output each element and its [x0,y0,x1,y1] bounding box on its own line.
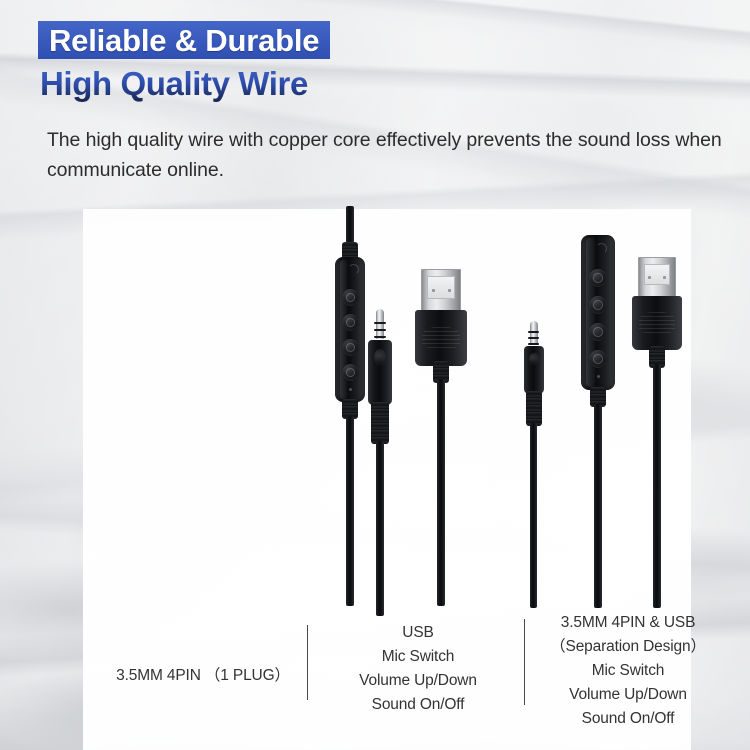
usb-hole [432,289,435,292]
banner-highlight: Reliable & Durable [38,21,330,59]
caption-right: 3.5MM 4PIN & USB （Separation Design） Mic… [533,611,723,731]
jack-tip-icon [376,309,384,339]
mic-icon [593,273,603,283]
banner-title: Reliable & Durable [49,25,319,56]
inline-control-module [581,235,615,390]
jack-body [524,346,544,394]
usb-hole [648,276,651,279]
inline-control-module [335,257,365,402]
mic-switch-button[interactable] [342,289,359,306]
page-description: The high quality wire with copper core e… [47,126,727,185]
mic-indicator-icon [596,243,607,254]
volume-down-icon [346,343,356,353]
volume-down-button[interactable] [589,323,607,341]
cable [437,379,445,606]
mic-switch-button[interactable] [589,269,607,287]
cable [594,404,602,608]
volume-up-icon [593,300,603,310]
page-subtitle: High Quality Wire [40,66,308,103]
caption-left: 3.5MM 4PIN （1 PLUG） [103,664,303,688]
jack-body [368,340,392,405]
sound-icon [346,368,356,378]
cable [346,416,354,606]
jack-tip-icon [530,321,538,345]
caption-middle: USB Mic Switch Volume Up/Down Sound On/O… [318,621,518,717]
cable [346,206,354,246]
usb-shell [415,310,467,366]
jack-ring-icon [374,336,386,338]
led-indicator [349,388,352,391]
cable [653,364,661,608]
usb-a-connector-icon [421,269,461,311]
sound-on-off-button[interactable] [342,364,359,381]
product-feature-image: Reliable & Durable High Quality Wire The… [0,0,750,750]
usb-grip-ribs [639,312,675,333]
cable [530,423,537,608]
volume-up-button[interactable] [342,314,359,331]
volume-up-icon [346,318,356,328]
caption-divider [307,625,308,700]
jack-ring-icon [528,343,539,345]
usb-hole [663,276,666,279]
sound-icon [593,354,603,364]
volume-down-icon [593,327,603,337]
sound-on-off-button[interactable] [589,350,607,368]
jack-ring-icon [374,322,386,324]
volume-down-button[interactable] [342,339,359,356]
jack-ring-icon [528,331,539,333]
usb-hole [448,289,451,292]
usb-grip-ribs [422,327,459,348]
jack-ring-icon [528,337,539,339]
jack-ring-icon [374,329,386,331]
caption-divider [524,619,525,705]
volume-up-button[interactable] [589,296,607,314]
mic-indicator-icon [348,264,359,275]
usb-a-connector-icon [638,257,676,297]
strain-relief [526,391,542,426]
product-photo-panel: 3.5MM 4PIN （1 PLUG） USB Mic Switch Volum… [83,209,691,750]
cable [376,441,384,616]
usb-shell [632,296,682,350]
strain-relief [371,402,389,444]
mic-icon [346,293,356,303]
led-indicator [597,375,600,378]
